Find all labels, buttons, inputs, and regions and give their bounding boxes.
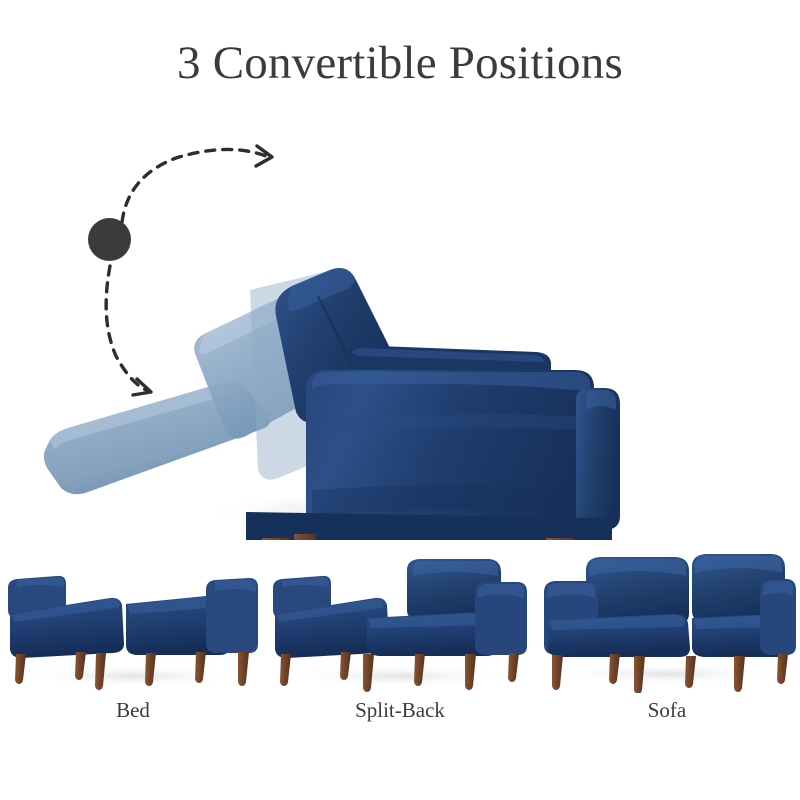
variant-bed-image bbox=[0, 548, 266, 693]
variant-sofa-label: Sofa bbox=[534, 698, 800, 723]
badge-and-arrows bbox=[60, 130, 310, 420]
page-title: 3 Convertible Positions bbox=[0, 36, 800, 90]
thumb-floor-shadow bbox=[21, 665, 245, 687]
variant-sofa-image bbox=[534, 548, 800, 693]
leg-rear-left bbox=[294, 534, 316, 540]
main-backrest bbox=[306, 370, 594, 538]
right-arm bbox=[576, 388, 620, 530]
arrow-up-right-icon bbox=[122, 146, 272, 222]
infographic-page: 3 Convertible Positions bbox=[0, 0, 800, 800]
split-back-position-illustration bbox=[267, 548, 533, 693]
arrow-down-right-icon bbox=[106, 266, 151, 395]
variant-split-back[interactable]: Split-Back bbox=[267, 548, 533, 748]
step-badge-group: 3 bbox=[60, 130, 310, 420]
bed-position-illustration bbox=[0, 548, 266, 693]
variant-bed-label: Bed bbox=[0, 698, 266, 723]
variant-split-back-image bbox=[267, 548, 533, 693]
thumb-floor-shadow bbox=[286, 665, 514, 687]
thumb-floor-shadow bbox=[553, 663, 781, 685]
badge-circle bbox=[88, 218, 131, 261]
leg-front-right bbox=[546, 538, 574, 540]
leg-front-left bbox=[262, 538, 289, 540]
variant-row: Bed bbox=[0, 548, 800, 748]
variant-bed[interactable]: Bed bbox=[0, 548, 266, 748]
sofa-position-illustration bbox=[534, 548, 800, 693]
variant-split-back-label: Split-Back bbox=[267, 698, 533, 723]
variant-sofa[interactable]: Sofa bbox=[534, 548, 800, 748]
